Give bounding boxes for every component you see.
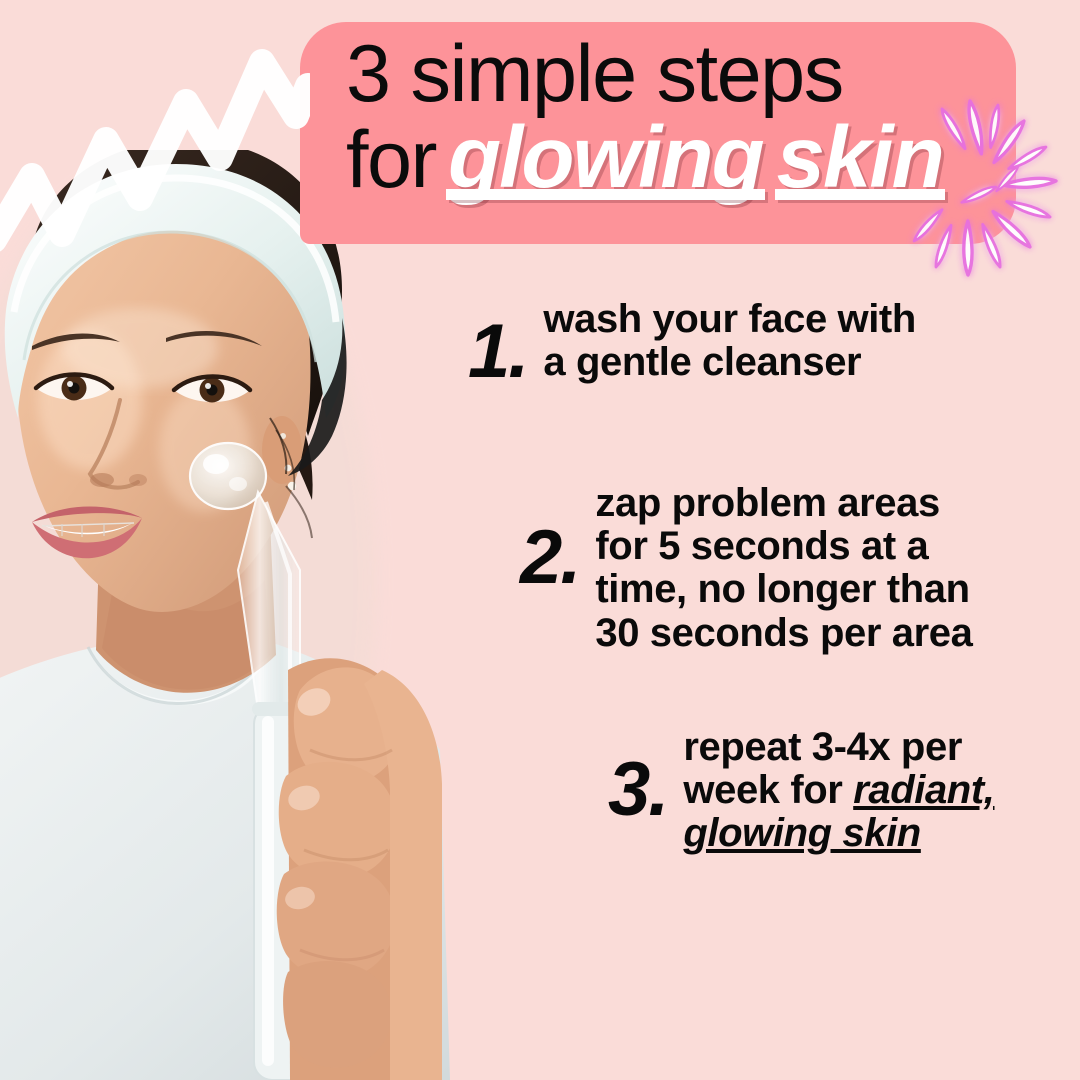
- step-text-1: wash your face with a gentle cleanser: [543, 292, 916, 384]
- step-2-line-2: for 5 seconds at a: [595, 525, 972, 568]
- step-number-3: 3.: [608, 722, 667, 828]
- step-number-2: 2.: [520, 478, 579, 596]
- step-3-line-3: glowing skin: [683, 812, 994, 855]
- step-item-1: 1. wash your face with a gentle cleanser: [468, 292, 916, 390]
- step-text-2: zap problem areas for 5 seconds at a tim…: [595, 478, 972, 655]
- step-3-italic-glowing-skin: glowing skin: [683, 811, 920, 855]
- step-2-line-1: zap problem areas: [595, 482, 972, 525]
- step-1-line-1: wash your face with: [543, 298, 916, 341]
- poster-canvas: 3 simple steps for glowingskin: [0, 0, 1080, 1080]
- step-number-1: 1.: [468, 292, 527, 390]
- step-item-2: 2. zap problem areas for 5 seconds at a …: [520, 478, 972, 655]
- step-3-italic-radiant: radiant,: [853, 768, 994, 812]
- step-item-3: 3. repeat 3-4x per week for radiant, glo…: [608, 722, 994, 856]
- steps-list: 1. wash your face with a gentle cleanser…: [0, 0, 1080, 1080]
- step-2-line-3: time, no longer than: [595, 568, 972, 611]
- step-text-3: repeat 3-4x per week for radiant, glowin…: [683, 722, 994, 856]
- step-3-plain-2: week for: [683, 768, 853, 812]
- step-1-line-2: a gentle cleanser: [543, 341, 916, 384]
- step-2-line-4: 30 seconds per area: [595, 612, 972, 655]
- step-3-line-2: week for radiant,: [683, 769, 994, 812]
- step-3-line-1: repeat 3-4x per: [683, 726, 994, 769]
